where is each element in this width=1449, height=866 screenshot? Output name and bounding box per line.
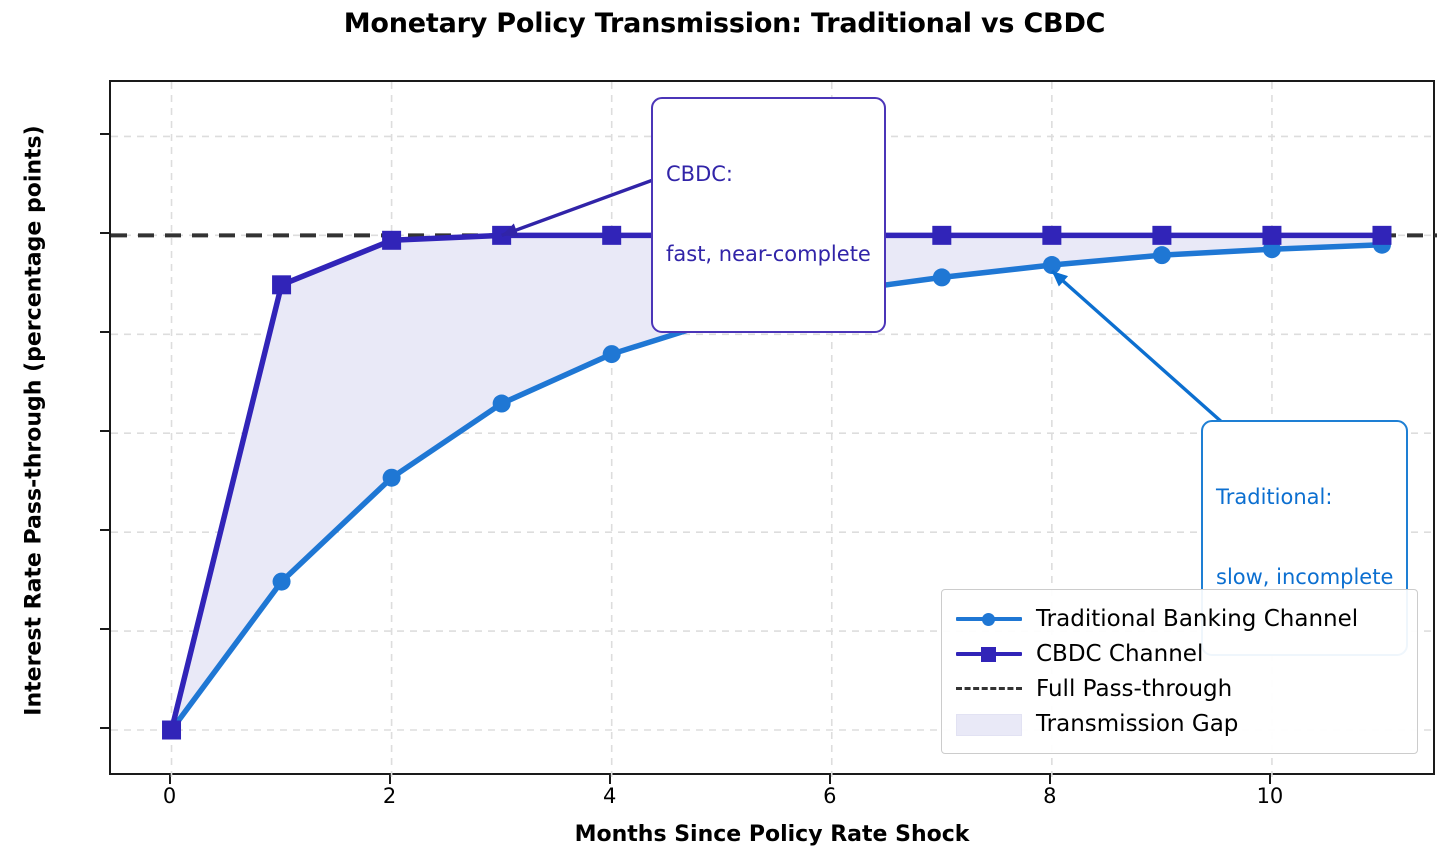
x-tick-label: 8 bbox=[1010, 784, 1090, 808]
y-tick-mark bbox=[100, 628, 109, 630]
x-axis-label: Months Since Policy Rate Shock bbox=[109, 822, 1435, 847]
x-tick-label: 2 bbox=[350, 784, 430, 808]
x-tick-label: 6 bbox=[790, 784, 870, 808]
legend-label-cbdc: CBDC Channel bbox=[1036, 641, 1203, 667]
chart-legend: Traditional Banking Channel CBDC Channel… bbox=[941, 589, 1418, 754]
annotation-cbdc-line1: CBDC: bbox=[666, 161, 871, 188]
legend-item-traditional: Traditional Banking Channel bbox=[956, 601, 1403, 636]
annotation-traditional-line2: slow, incomplete bbox=[1216, 564, 1393, 591]
legend-item-cbdc: CBDC Channel bbox=[956, 636, 1403, 671]
legend-item-transmission-gap: Transmission Gap bbox=[956, 706, 1403, 741]
chart-title: Monetary Policy Transmission: Traditiona… bbox=[0, 8, 1449, 39]
legend-key-traditional-line-icon bbox=[956, 606, 1022, 632]
legend-label-full-passthrough: Full Pass-through bbox=[1036, 676, 1232, 702]
legend-key-dashed-line-icon bbox=[956, 676, 1022, 702]
y-tick-mark bbox=[100, 430, 109, 432]
y-tick-mark bbox=[100, 331, 109, 333]
legend-item-full-passthrough: Full Pass-through bbox=[956, 671, 1403, 706]
annotation-cbdc: CBDC: fast, near-complete bbox=[651, 97, 886, 333]
legend-key-area-patch-icon bbox=[956, 711, 1022, 737]
annotation-cbdc-line2: fast, near-complete bbox=[666, 241, 871, 268]
annotation-traditional-line1: Traditional: bbox=[1216, 484, 1393, 511]
y-tick-mark bbox=[100, 133, 109, 135]
legend-label-traditional: Traditional Banking Channel bbox=[1036, 606, 1358, 632]
legend-key-cbdc-line-icon bbox=[956, 641, 1022, 667]
x-tick-label: 4 bbox=[570, 784, 650, 808]
y-axis-label: Interest Rate Pass-through (percentage p… bbox=[22, 61, 47, 781]
y-tick-mark bbox=[100, 529, 109, 531]
legend-label-transmission-gap: Transmission Gap bbox=[1036, 711, 1238, 737]
x-tick-label: 10 bbox=[1230, 784, 1310, 808]
y-tick-mark bbox=[100, 232, 109, 234]
y-tick-mark bbox=[100, 727, 109, 729]
chart-figure: Monetary Policy Transmission: Traditiona… bbox=[0, 0, 1449, 866]
x-tick-label: 0 bbox=[130, 784, 210, 808]
